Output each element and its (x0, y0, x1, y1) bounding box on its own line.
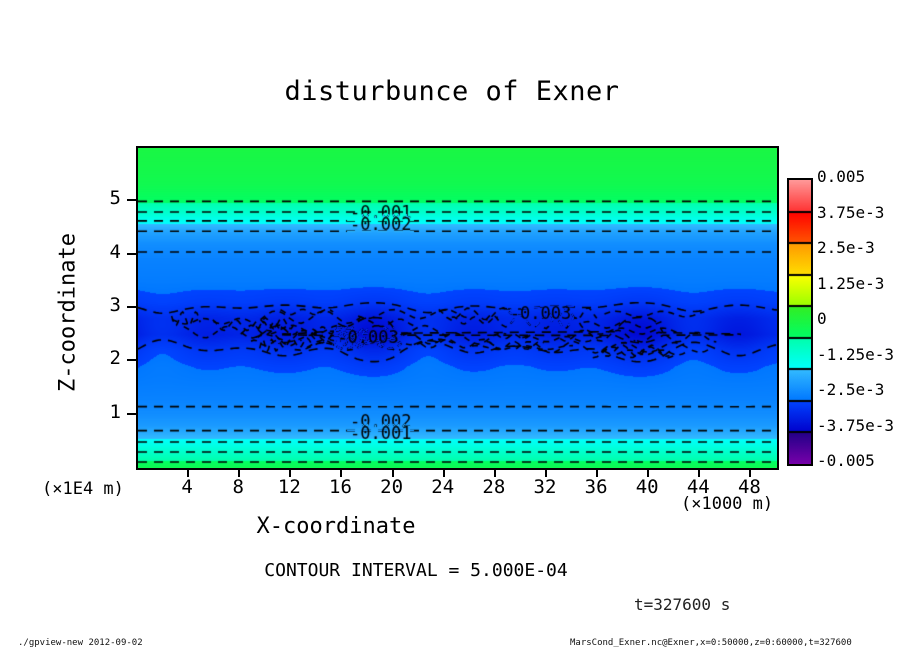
footer-source: MarsCond_Exner.nc@Exner,x=0:50000,z=0:60… (570, 638, 852, 648)
y-axis-unit-label: (×1E4 m) (42, 479, 124, 499)
colorbar-tick-label: -1.25e-3 (817, 345, 894, 364)
page-title: disturbunce of Exner (0, 76, 904, 107)
colorbar-tick-label: -2.5e-3 (817, 380, 884, 399)
y-axis-tick-label: 4 (95, 241, 121, 263)
y-axis-tick-label: 1 (95, 401, 121, 423)
colorbar-tick-label: 2.5e-3 (817, 238, 875, 257)
timestamp-label: t=327600 s (634, 595, 730, 614)
y-axis-title: Z-coordinate (56, 193, 81, 433)
y-axis-tick-label: 2 (95, 347, 121, 369)
colorbar-tick-label: 0.005 (817, 167, 865, 186)
contour-interval-label: CONTOUR INTERVAL = 5.000E-04 (136, 560, 696, 581)
colorbar-tick-label: 3.75e-3 (817, 203, 884, 222)
colorbar-tick-label: 1.25e-3 (817, 274, 884, 293)
footer-command: ./gpview-new 2012-09-02 (18, 638, 143, 648)
y-axis-tick-label: 3 (95, 294, 121, 316)
y-axis-tick (127, 359, 136, 361)
colorbar (787, 178, 813, 466)
contour-field (138, 148, 777, 468)
colorbar-tick-label: -0.005 (817, 451, 875, 470)
x-axis-tick-label: 48 (719, 476, 779, 498)
y-axis-tick (127, 253, 136, 255)
colorbar-tick-label: 0 (817, 309, 827, 328)
y-axis-tick (127, 199, 136, 201)
plot-area (136, 146, 779, 470)
y-axis-tick (127, 306, 136, 308)
x-axis-title: X-coordinate (136, 514, 536, 539)
colorbar-gradient (789, 180, 811, 464)
y-axis-tick-label: 5 (95, 187, 121, 209)
y-axis-tick (127, 413, 136, 415)
colorbar-tick-label: -3.75e-3 (817, 416, 894, 435)
